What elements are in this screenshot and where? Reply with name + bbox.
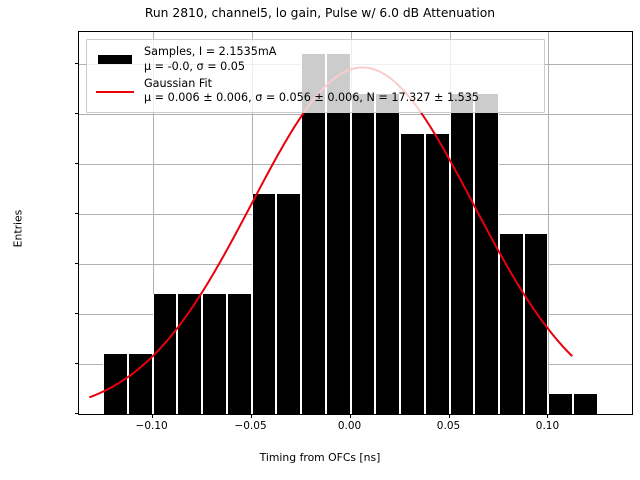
legend-item-samples[interactable]: Samples, I = 2.1535mA μ = -0.0, σ = 0.05 [93, 44, 538, 76]
legend-fit-line2: μ = 0.006 ± 0.006, σ = 0.056 ± 0.006, N … [144, 91, 479, 106]
y-tick-mark [75, 263, 79, 264]
y-tick-mark [75, 163, 79, 164]
page-title: Run 2810, channel5, lo gain, Pulse w/ 6.… [0, 6, 640, 20]
legend-bar-patch-icon [93, 51, 137, 69]
legend-samples-line2: μ = -0.0, σ = 0.05 [144, 60, 276, 75]
x-tick-mark [251, 414, 252, 418]
gridline-horizontal [79, 414, 632, 415]
y-tick-mark [75, 213, 79, 214]
y-tick-mark [75, 63, 79, 64]
x-tick-label: −0.10 [136, 420, 168, 432]
legend-item-gaussian-fit-label: Gaussian Fit μ = 0.006 ± 0.006, σ = 0.05… [144, 77, 479, 107]
y-tick-mark [75, 363, 79, 364]
legend-item-gaussian-fit[interactable]: Gaussian Fit μ = 0.006 ± 0.006, σ = 0.05… [93, 76, 538, 108]
x-tick-label: 0.00 [338, 420, 361, 432]
legend-line-swatch-icon [93, 82, 137, 100]
legend[interactable]: Samples, I = 2.1535mA μ = -0.0, σ = 0.05… [86, 39, 545, 113]
y-tick-mark [75, 113, 79, 114]
x-tick-mark [350, 414, 351, 418]
y-tick-mark [75, 313, 79, 314]
x-tick-label: 0.10 [536, 420, 559, 432]
fit-path [89, 67, 572, 397]
x-tick-label: −0.05 [234, 420, 266, 432]
y-axis-label: Entries [12, 149, 25, 309]
legend-fit-line1: Gaussian Fit [144, 77, 212, 90]
x-tick-mark [152, 414, 153, 418]
legend-samples-line1: Samples, I = 2.1535mA [144, 45, 276, 58]
x-axis-label: Timing from OFCs [ns] [0, 451, 640, 464]
x-tick-mark [449, 414, 450, 418]
x-tick-label: 0.05 [437, 420, 460, 432]
legend-item-samples-label: Samples, I = 2.1535mA μ = -0.0, σ = 0.05 [144, 45, 276, 75]
y-tick-mark [75, 413, 79, 414]
x-tick-mark [547, 414, 548, 418]
figure-canvas: Run 2810, channel5, lo gain, Pulse w/ 6.… [0, 0, 640, 480]
